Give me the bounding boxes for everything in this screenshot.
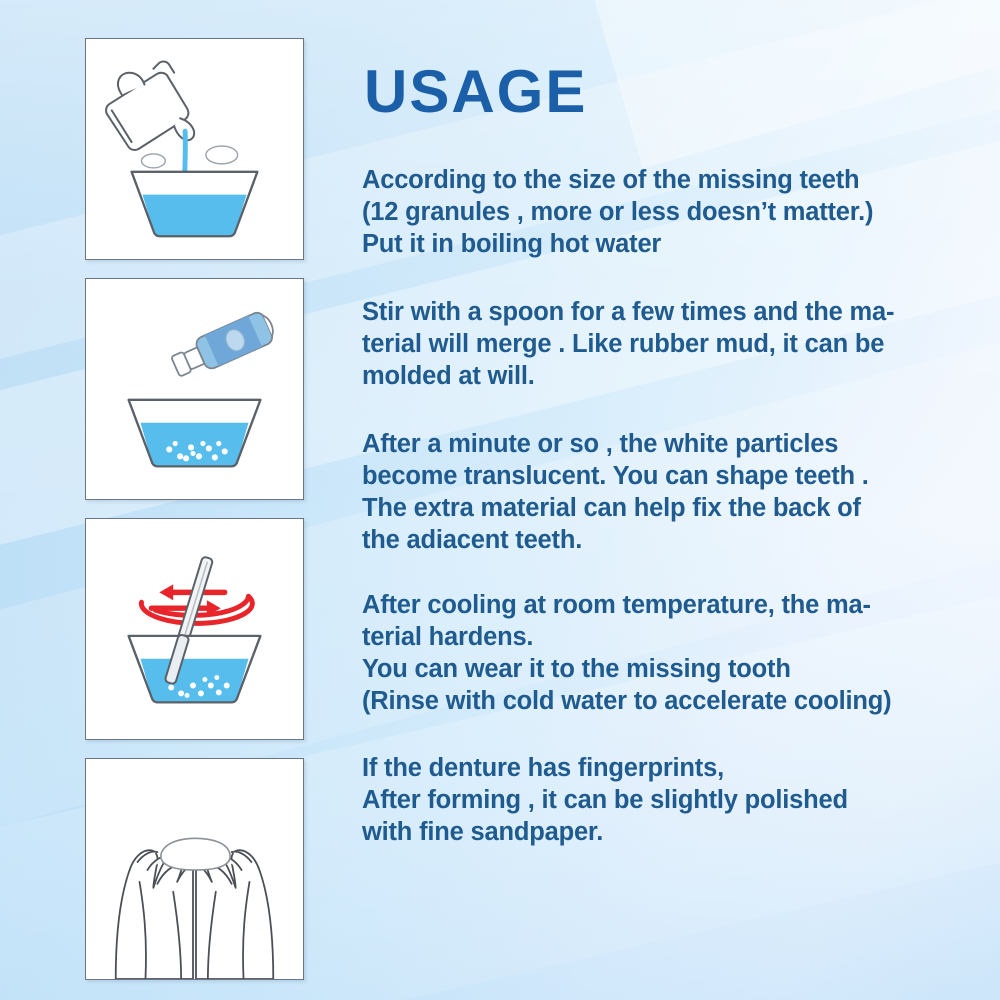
caption-line: (12 granules , more or less doesn’t matt… — [362, 196, 962, 228]
caption-line: with fine sandpaper. — [362, 816, 962, 848]
caption-line: The extra material can help fix the back… — [362, 492, 962, 524]
caption-line: Put it in boiling hot water — [362, 228, 962, 260]
caption-line: You can wear it to the missing tooth — [362, 653, 962, 685]
step-5-caption: If the denture has fingerprints, After f… — [362, 752, 962, 848]
step-4-illustration-panel — [85, 758, 304, 980]
caption-line: molded at will. — [362, 360, 962, 392]
stirring-rod-in-bowl-icon — [86, 519, 303, 739]
kettle-pouring-water-into-bowl-icon — [86, 39, 303, 259]
step-1-illustration-panel — [85, 38, 304, 260]
usage-instruction-poster: USAGE According to the size of the missi… — [0, 0, 1000, 1000]
step-4-caption: After cooling at room temperature, the m… — [362, 589, 962, 717]
step-2-caption: Stir with a spoon for a few times and th… — [362, 296, 962, 392]
caption-line: After cooling at room temperature, the m… — [362, 589, 962, 621]
caption-line: After a minute or so , the white particl… — [362, 428, 962, 460]
page-title: USAGE — [364, 62, 962, 122]
hands-molding-denture-icon — [86, 759, 303, 979]
illustration-panel-column — [85, 38, 304, 998]
caption-line: If the denture has fingerprints, — [362, 752, 962, 784]
caption-line: Stir with a spoon for a few times and th… — [362, 296, 962, 328]
caption-line: the adiacent teeth. — [362, 524, 962, 556]
bottle-pouring-granules-into-bowl-icon — [86, 279, 303, 499]
caption-line: (Rinse with cold water to accelerate coo… — [362, 685, 962, 717]
caption-line: become translucent. You can shape teeth … — [362, 460, 962, 492]
usage-text-column: USAGE According to the size of the missi… — [362, 62, 962, 848]
step-3-caption: After a minute or so , the white particl… — [362, 428, 962, 556]
step-3-illustration-panel — [85, 518, 304, 740]
caption-line: terial will merge . Like rubber mud, it … — [362, 328, 962, 360]
caption-line: After forming , it can be slightly polis… — [362, 784, 962, 816]
step-1-caption: According to the size of the missing tee… — [362, 164, 962, 260]
caption-line: terial hardens. — [362, 621, 962, 653]
step-2-illustration-panel — [85, 278, 304, 500]
caption-line: According to the size of the missing tee… — [362, 164, 962, 196]
